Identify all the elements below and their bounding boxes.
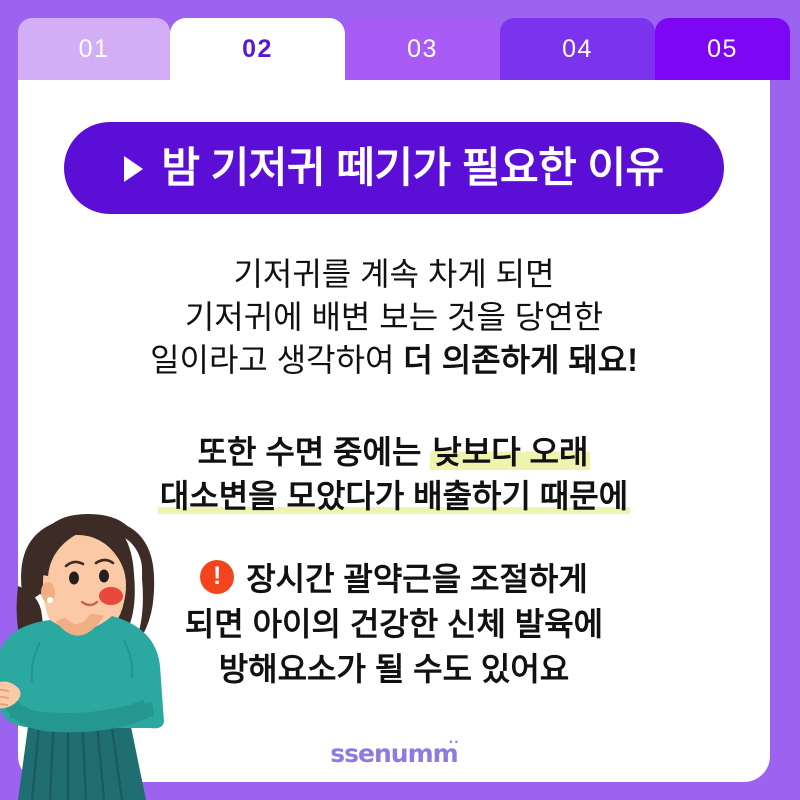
tab-05-label: 05: [707, 35, 738, 64]
warning-line-2: 되면 아이의 건강한 신체 발육에: [185, 606, 603, 642]
tab-04[interactable]: 04: [500, 18, 655, 80]
tab-02[interactable]: 02: [170, 18, 345, 80]
content-card: 밤 기저귀 떼기가 필요한 이유 기저귀를 계속 차게 되면 기저귀에 배변 보…: [18, 77, 770, 782]
tab-03[interactable]: 03: [345, 18, 500, 80]
tab-01-label: 01: [79, 35, 110, 64]
tab-04-label: 04: [562, 35, 593, 64]
highlight-line-1-marked: 낮보다 오래: [430, 434, 590, 470]
intro-paragraph: 기저귀를 계속 차게 되면 기저귀에 배변 보는 것을 당연한 일이라고 생각하…: [18, 253, 770, 382]
brand-logo: ssenumm ..: [18, 739, 770, 768]
body-area: 기저귀를 계속 차게 되면 기저귀에 배변 보는 것을 당연한 일이라고 생각하…: [18, 237, 770, 691]
warning-line-3: 방해요소가 될 수도 있어요: [219, 651, 570, 687]
exclamation-glyph: !: [213, 564, 221, 589]
brand-logo-text: ssenumm ..: [330, 739, 457, 768]
brand-logo-dots: ..: [449, 732, 460, 746]
intro-line-3-bold: 더 의존하게 돼요!: [403, 342, 638, 378]
card-frame: 01 02 03 04 05 밤 기저귀 떼기가 필요한 이유 기저귀를 계속 …: [0, 0, 800, 800]
title-banner: 밤 기저귀 떼기가 필요한 이유: [64, 122, 724, 214]
tab-strip: 01 02 03 04 05: [18, 18, 790, 80]
brand-logo-word: ssenumm: [330, 739, 457, 768]
intro-line-1: 기저귀를 계속 차게 되면: [233, 256, 554, 292]
intro-line-3-plain: 일이라고 생각하여: [150, 342, 403, 378]
tab-03-label: 03: [407, 35, 438, 64]
tab-02-label: 02: [242, 35, 273, 64]
highlight-paragraph: 또한 수면 중에는 낮보다 오래 대소변을 모았다가 배출하기 때문에: [18, 430, 770, 518]
warning-paragraph: ! 장시간 괄약근을 조절하게 되면 아이의 건강한 신체 발육에 방해요소가 …: [18, 554, 770, 692]
highlight-line-1-plain: 또한 수면 중에는: [198, 434, 431, 470]
page-title: 밤 기저귀 떼기가 필요한 이유: [161, 147, 663, 189]
exclamation-circle-icon: !: [200, 560, 234, 594]
play-triangle-icon: [124, 156, 143, 182]
warning-line-1-wrap: ! 장시간 괄약근을 조절하게: [200, 557, 588, 602]
warning-line-1: 장시간 괄약근을 조절하게: [246, 557, 588, 602]
highlight-line-2-marked: 대소변을 모았다가 배출하기 때문에: [158, 478, 630, 514]
tab-05[interactable]: 05: [655, 18, 790, 80]
intro-line-2: 기저귀에 배변 보는 것을 당연한: [185, 299, 603, 335]
tab-01[interactable]: 01: [18, 18, 170, 80]
